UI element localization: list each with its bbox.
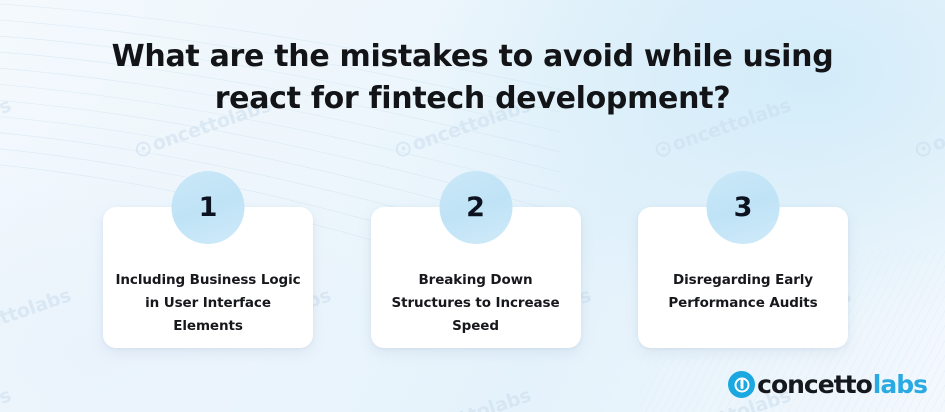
watermark-text: oncettolabs [409,384,533,412]
watermark-circle-icon [134,139,153,158]
logo-text-primary: concetto [757,372,872,397]
logo-text-secondary: labs [873,372,927,397]
card-number-badge-3: 3 [707,171,780,244]
card-item-1: 1 Including Business Logic in User Inter… [103,207,313,348]
cards-row: 1 Including Business Logic in User Inter… [103,207,848,348]
concetto-circle-icon [728,371,755,398]
watermark-text: oncettolabs [0,284,74,345]
watermark-text: oncettolabs [0,384,14,412]
watermark-circle-icon [654,139,673,158]
card-number-badge-1: 1 [172,171,245,244]
watermark-circle-icon [914,139,933,158]
infographic-canvas: oncettolabs oncettolabs oncettolabs once… [0,0,945,412]
card-item-2: 2 Breaking Down Structures to Increase S… [371,207,581,348]
watermark-circle-icon [394,139,413,158]
card-item-3: 3 Disregarding Early Performance Audits [638,207,848,348]
card-text-2: Breaking Down Structures to Increase Spe… [383,269,568,338]
card-text-3: Disregarding Early Performance Audits [651,269,836,315]
page-title: What are the mistakes to avoid while usi… [0,36,945,120]
brand-logo: concetto labs [728,371,927,398]
card-text-1: Including Business Logic in User Interfa… [116,269,301,338]
card-number-badge-2: 2 [439,171,512,244]
